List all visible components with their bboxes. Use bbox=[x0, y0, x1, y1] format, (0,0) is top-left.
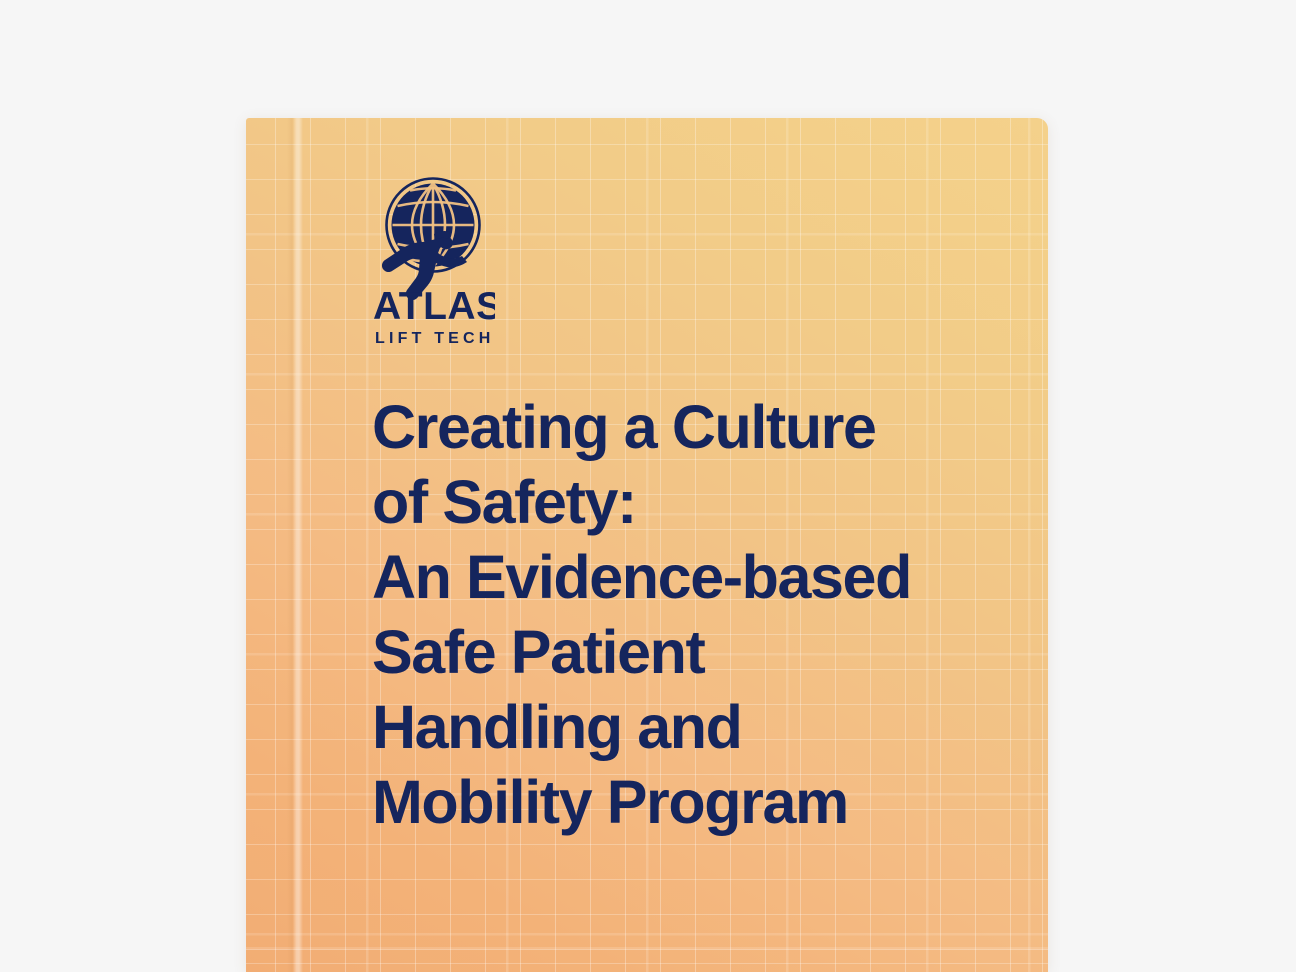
logo-tagline-text: LIFT TECH bbox=[375, 330, 495, 347]
report-cover[interactable]: ATLAS LIFT TECH Creating a Culture of Sa… bbox=[246, 118, 1048, 972]
spine-highlight bbox=[293, 118, 303, 972]
cover-title-line-1: Creating a Culture bbox=[372, 390, 992, 465]
logo-brand-text: ATLAS bbox=[373, 285, 495, 328]
cover-title-line-3: An Evidence-based bbox=[372, 540, 992, 615]
cover-title-line-2: of Safety: bbox=[372, 465, 992, 540]
cover-title: Creating a Culture of Safety: An Evidenc… bbox=[372, 390, 992, 840]
atlas-globe-icon bbox=[382, 179, 480, 301]
cover-title-line-6: Mobility Program bbox=[372, 765, 992, 840]
cover-title-line-5: Handling and bbox=[372, 690, 992, 765]
spine-shadow bbox=[287, 118, 294, 972]
page-root: ATLAS LIFT TECH Creating a Culture of Sa… bbox=[0, 0, 1296, 972]
atlas-lift-tech-logo[interactable]: ATLAS LIFT TECH bbox=[371, 176, 495, 354]
cover-title-line-4: Safe Patient bbox=[372, 615, 992, 690]
